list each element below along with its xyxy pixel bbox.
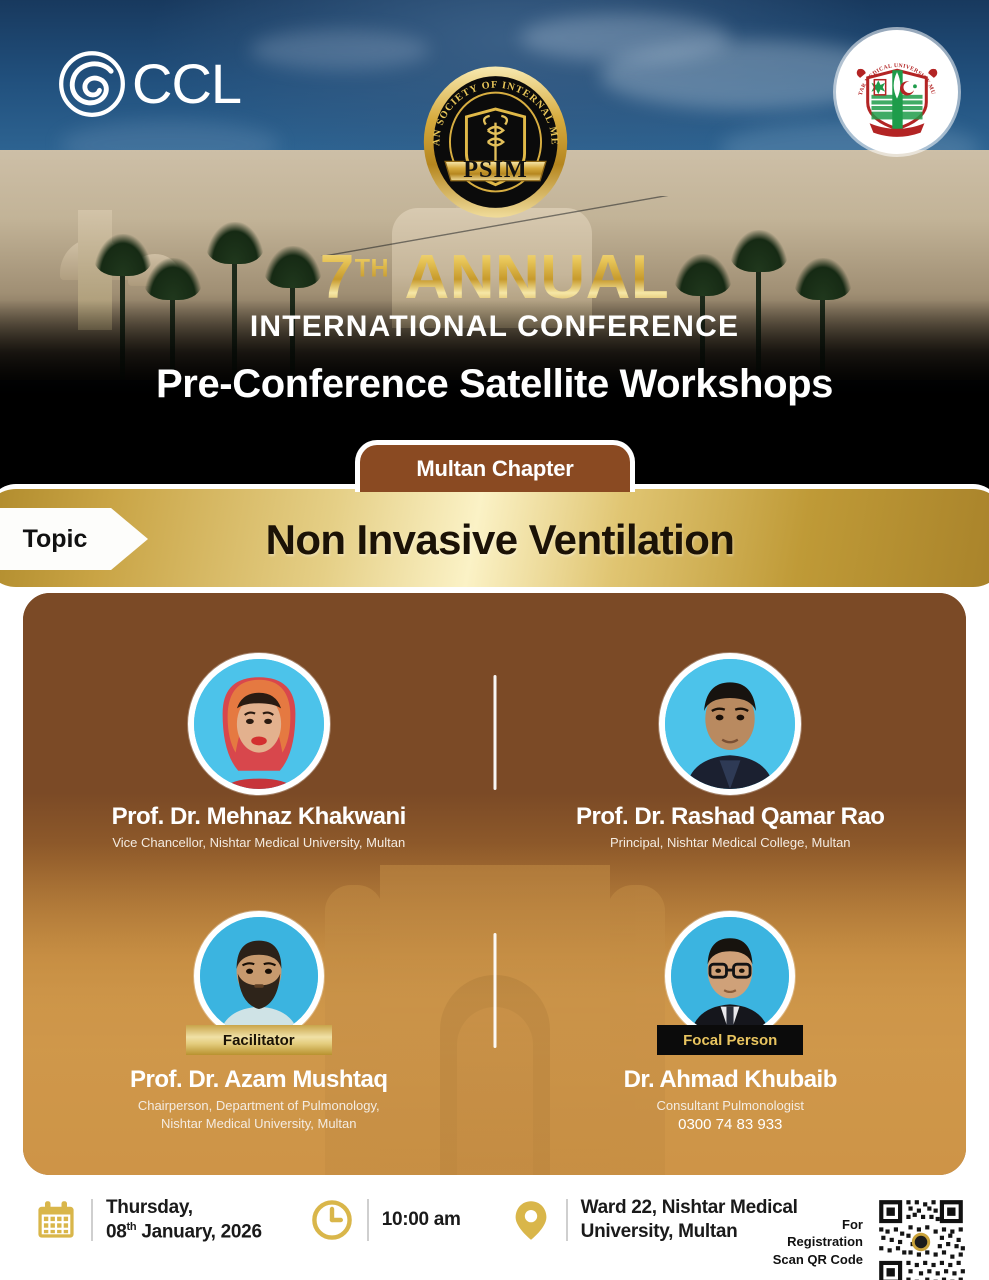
chapter-label: Multan Chapter	[416, 456, 573, 482]
date-line-1: Thursday,	[106, 1196, 262, 1220]
ordinal-suffix: TH	[355, 254, 389, 282]
speaker-name: Prof. Dr. Rashad Qamar Rao	[576, 804, 884, 830]
avatar	[665, 911, 795, 1041]
divider	[91, 1199, 93, 1241]
conference-poster: CCL PAKISTAN SOCIETY OF INTERNAL MEDICIN…	[0, 0, 989, 1280]
venue-line-2: University, Multan	[581, 1220, 798, 1244]
page-title-annual: 7TH ANNUAL	[0, 247, 989, 309]
date-day: 08	[106, 1222, 127, 1243]
speaker-badge-focal-person: Focal Person	[657, 1025, 803, 1055]
speaker-card: Prof. Dr. Mehnaz Khakwani Vice Chancello…	[23, 653, 495, 852]
footer-date: Thursday, 08th January, 2026	[34, 1196, 262, 1245]
time-text: 10:00 am	[382, 1208, 461, 1232]
annual-word: ANNUAL	[405, 243, 670, 312]
chapter-badge: Multan Chapter	[355, 440, 635, 492]
clock-icon	[310, 1198, 354, 1242]
ccl-swirl-icon	[58, 50, 126, 118]
qr-label-line-1: For	[773, 1216, 863, 1234]
divider	[566, 1199, 568, 1241]
divider	[367, 1199, 369, 1241]
date-day-suffix: th	[127, 1221, 137, 1233]
date-month-year: January, 2026	[136, 1222, 261, 1243]
topic-label: Topic	[23, 525, 88, 554]
footer-venue: Ward 22, Nishtar Medical University, Mul…	[509, 1196, 798, 1245]
venue-text: Ward 22, Nishtar Medical University, Mul…	[581, 1196, 798, 1245]
avatar	[194, 911, 324, 1041]
speaker-photo	[194, 659, 324, 789]
ccl-logo-text: CCL	[132, 56, 241, 112]
svg-text:PSIM: PSIM	[463, 156, 527, 183]
page-title-workshops: Pre-Conference Satellite Workshops	[0, 362, 989, 407]
footer-time: 10:00 am	[310, 1198, 461, 1242]
speaker-card: Prof. Dr. Rashad Qamar Rao Principal, Ni…	[495, 653, 967, 852]
cloud	[250, 30, 430, 70]
date-line-2: 08th January, 2026	[106, 1220, 262, 1245]
psim-crest-icon: PAKISTAN SOCIETY OF INTERNAL MEDICINE PS…	[418, 62, 573, 222]
speaker-role: Vice Chancellor, Nishtar Medical Univers…	[112, 834, 405, 851]
qr-label-line-2: Registration	[773, 1233, 863, 1251]
location-pin-icon	[509, 1198, 553, 1242]
speaker-badge-facilitator: Facilitator	[186, 1025, 332, 1055]
venue-line-1: Ward 22, Nishtar Medical	[581, 1196, 798, 1220]
avatar	[188, 653, 330, 795]
speaker-card: Focal Person Dr. Ahmad Khubaib Consultan…	[495, 911, 967, 1133]
speaker-name: Prof. Dr. Azam Mushtaq	[130, 1067, 387, 1093]
speaker-role: Principal, Nishtar Medical College, Mult…	[610, 834, 851, 851]
calendar-icon	[34, 1198, 78, 1242]
speaker-photo	[671, 917, 789, 1035]
date-text: Thursday, 08th January, 2026	[106, 1196, 262, 1245]
nishtar-medical-university-crest-icon: NISHTAR MEDICAL UNIVERSITY MULTAN	[836, 30, 958, 154]
speaker-name: Dr. Ahmad Khubaib	[624, 1067, 837, 1093]
footer-bar: Thursday, 08th January, 2026 10:00 am	[0, 1182, 989, 1280]
subtitle-international-conference: INTERNATIONAL CONFERENCE	[0, 310, 989, 344]
speaker-row-bottom: Facilitator Prof. Dr. Azam Mushtaq Chair…	[23, 911, 966, 1133]
qr-code-icon[interactable]	[875, 1196, 967, 1280]
speaker-role: Consultant Pulmonologist	[657, 1097, 804, 1114]
topic-value: Non Invasive Ventilation	[150, 505, 850, 575]
badge-label: Facilitator	[223, 1032, 295, 1049]
badge-label: Focal Person	[683, 1032, 777, 1049]
avatar	[659, 653, 801, 795]
speaker-row-top: Prof. Dr. Mehnaz Khakwani Vice Chancello…	[23, 653, 966, 852]
qr-registration-block: For Registration Scan QR Code	[773, 1196, 967, 1280]
speaker-phone: 0300 74 83 933	[678, 1116, 782, 1133]
ordinal-number: 7	[320, 243, 355, 312]
speakers-panel: Prof. Dr. Mehnaz Khakwani Vice Chancello…	[18, 588, 971, 1180]
speaker-card: Facilitator Prof. Dr. Azam Mushtaq Chair…	[23, 911, 495, 1133]
speaker-role: Chairperson, Department of Pulmonology, …	[138, 1097, 380, 1131]
speaker-photo	[200, 917, 318, 1035]
qr-label-line-3: Scan QR Code	[773, 1251, 863, 1269]
speaker-photo	[665, 659, 795, 789]
ccl-logo: CCL	[58, 46, 258, 122]
cloud	[520, 14, 730, 62]
speaker-name: Prof. Dr. Mehnaz Khakwani	[112, 804, 406, 830]
qr-label: For Registration Scan QR Code	[773, 1216, 863, 1269]
